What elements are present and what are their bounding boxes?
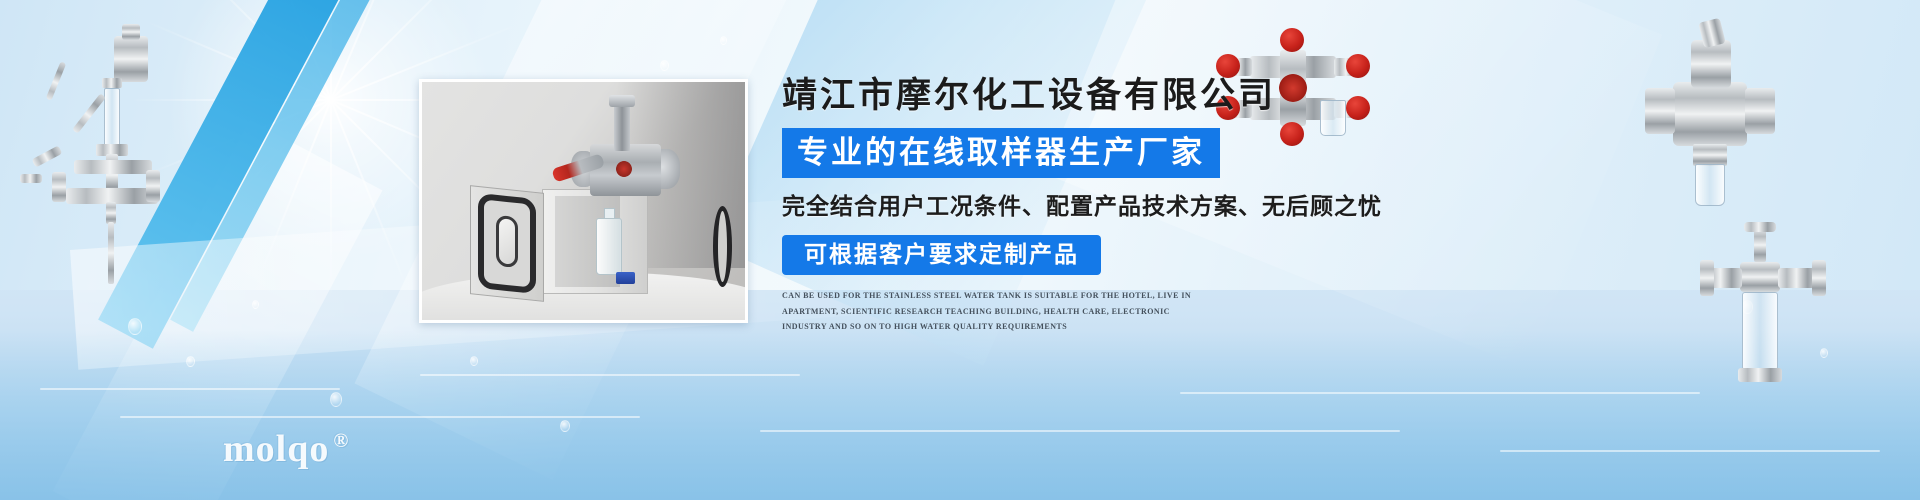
photo-valve-stem (614, 103, 630, 151)
product-photo-inner (422, 82, 745, 320)
watermark-text: molqo (223, 428, 329, 470)
sight-glass-sampling-valve (1700, 228, 1832, 408)
banner-text-block: 靖江市摩尔化工设备有限公司 专业的在线取样器生产厂家 完全结合用户工况条件、配置… (782, 76, 1392, 335)
red-handwheel (1216, 54, 1240, 78)
photo-door-window (497, 215, 519, 268)
red-handwheel (1280, 28, 1304, 52)
water-droplet (186, 356, 195, 367)
product-photo[interactable] (419, 79, 748, 323)
photo-door-gasket (479, 193, 537, 294)
registered-trademark-icon: ® (333, 430, 349, 452)
english-caption: CAN BE USED FOR THE STAINLESS STEEL WATE… (782, 288, 1200, 335)
photo-sample-bottle (596, 218, 622, 275)
water-droplet (330, 392, 342, 407)
headline-primary: 专业的在线取样器生产厂家 (782, 128, 1220, 178)
decor-ribbon-accent-cyan (170, 0, 395, 332)
company-title: 靖江市摩尔化工设备有限公司 (782, 76, 1392, 115)
water-droplet (252, 300, 259, 309)
photo-brand-seal-icon (616, 161, 632, 178)
water-droplet (720, 36, 727, 45)
watermark-logo: molqo® (223, 430, 349, 468)
sampler-probe-assembly (18, 22, 168, 302)
headline-subtitle: 完全结合用户工况条件、配置产品技术方案、无后顾之忧 (782, 192, 1392, 221)
bottom-water-wash (0, 330, 1920, 500)
photo-valve-knob (609, 95, 635, 107)
gear-operated-valve (1645, 26, 1775, 216)
water-droplet (560, 420, 570, 432)
photo-cabinet-handle (713, 206, 732, 287)
headline-custom-badge: 可根据客户要求定制产品 (782, 235, 1101, 275)
red-handwheel (1346, 54, 1370, 78)
water-droplet (470, 356, 478, 366)
photo-cabinet-door (470, 185, 544, 302)
water-droplet (660, 60, 669, 71)
promo-banner: 靖江市摩尔化工设备有限公司 专业的在线取样器生产厂家 完全结合用户工况条件、配置… (0, 0, 1920, 500)
photo-blue-cap (616, 272, 635, 284)
water-droplet (128, 318, 142, 335)
